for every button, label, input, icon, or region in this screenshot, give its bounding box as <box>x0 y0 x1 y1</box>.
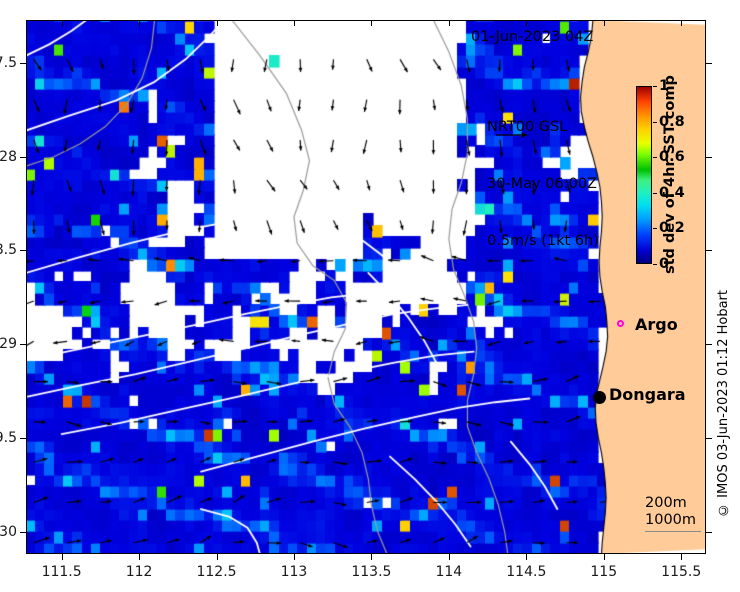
y-tick <box>20 344 26 345</box>
x-tick-top <box>62 20 63 26</box>
vector-legend: NRT00 GSL 30-May 06:00Z 0.5m/s (1kt 6h) <box>487 80 599 289</box>
y-tick-right <box>706 438 712 439</box>
y-tick <box>20 438 26 439</box>
y-tick-label: -29.5 <box>0 430 17 446</box>
y-tick-right <box>706 250 712 251</box>
y-tick-label: -28.5 <box>0 242 17 258</box>
depth-scale-bar: 200m 1000m <box>645 495 707 532</box>
scale-bar-200m: 200m <box>645 495 707 512</box>
scale-bar-1000m: 1000m <box>645 512 707 529</box>
vector-legend-line3: 0.5m/s (1kt 6h) <box>487 232 599 251</box>
map-figure: 111.5112112.5113113.5114114.5115115.5 -2… <box>0 0 740 592</box>
x-tick <box>681 554 682 560</box>
x-tick-top <box>139 20 140 26</box>
argo-label: Argo <box>635 315 678 334</box>
x-tick-label: 114.5 <box>506 564 546 580</box>
x-tick <box>604 554 605 560</box>
y-tick-right <box>706 63 712 64</box>
colorbar-tick <box>653 264 657 265</box>
x-tick-label: 115 <box>590 564 617 580</box>
x-tick-label: 111.5 <box>42 564 82 580</box>
y-tick-right <box>706 344 712 345</box>
y-tick-right <box>706 157 712 158</box>
x-tick-label: 112.5 <box>196 564 236 580</box>
x-tick-label: 113 <box>281 564 308 580</box>
arrow-right-icon <box>495 130 529 140</box>
colorbar: 00.20.40.60.81 <box>636 86 652 264</box>
x-tick-top <box>371 20 372 26</box>
colorbar-tick <box>653 86 657 87</box>
x-tick-top <box>681 20 682 26</box>
vector-legend-line2: 30-May 06:00Z <box>487 175 599 194</box>
dongara-marker-icon[interactable] <box>593 391 606 404</box>
x-tick-label: 113.5 <box>351 564 391 580</box>
x-tick-top <box>217 20 218 26</box>
colorbar-tick <box>653 122 657 123</box>
colorbar-tick <box>653 193 657 194</box>
x-tick <box>526 554 527 560</box>
y-tick-label: -29 <box>0 336 17 352</box>
x-tick-top <box>449 20 450 26</box>
x-tick <box>371 554 372 560</box>
colorbar-title: std dev of 4hr SST comp <box>662 86 678 264</box>
colorbar-gradient <box>636 86 652 264</box>
y-tick-label: -30 <box>0 524 17 540</box>
x-tick-top <box>526 20 527 26</box>
x-tick-label: 112 <box>126 564 153 580</box>
y-tick <box>20 63 26 64</box>
colorbar-tick <box>653 228 657 229</box>
x-tick <box>139 554 140 560</box>
y-tick <box>20 532 26 533</box>
x-tick <box>449 554 450 560</box>
land-coastline-layer <box>26 20 706 554</box>
x-tick-top <box>604 20 605 26</box>
y-tick <box>20 250 26 251</box>
y-tick-label: -28 <box>0 149 17 165</box>
dongara-label: Dongara <box>609 385 686 404</box>
date-stamp-label: 01-Jun-2023 04Z <box>471 29 593 45</box>
copyright-credit: © IMOS 03-Jun-2023 01:12 Hobart <box>716 290 731 517</box>
x-tick <box>217 554 218 560</box>
map-plot-area[interactable] <box>26 20 706 554</box>
colorbar-tick <box>653 157 657 158</box>
argo-marker-icon[interactable] <box>617 320 624 327</box>
x-tick <box>62 554 63 560</box>
x-tick-label: 114 <box>435 564 462 580</box>
x-tick <box>294 554 295 560</box>
y-tick <box>20 157 26 158</box>
scale-bar-rule <box>645 531 701 532</box>
y-tick-label: -27.5 <box>0 55 17 71</box>
x-tick-top <box>294 20 295 26</box>
x-tick-label: 115.5 <box>661 564 701 580</box>
